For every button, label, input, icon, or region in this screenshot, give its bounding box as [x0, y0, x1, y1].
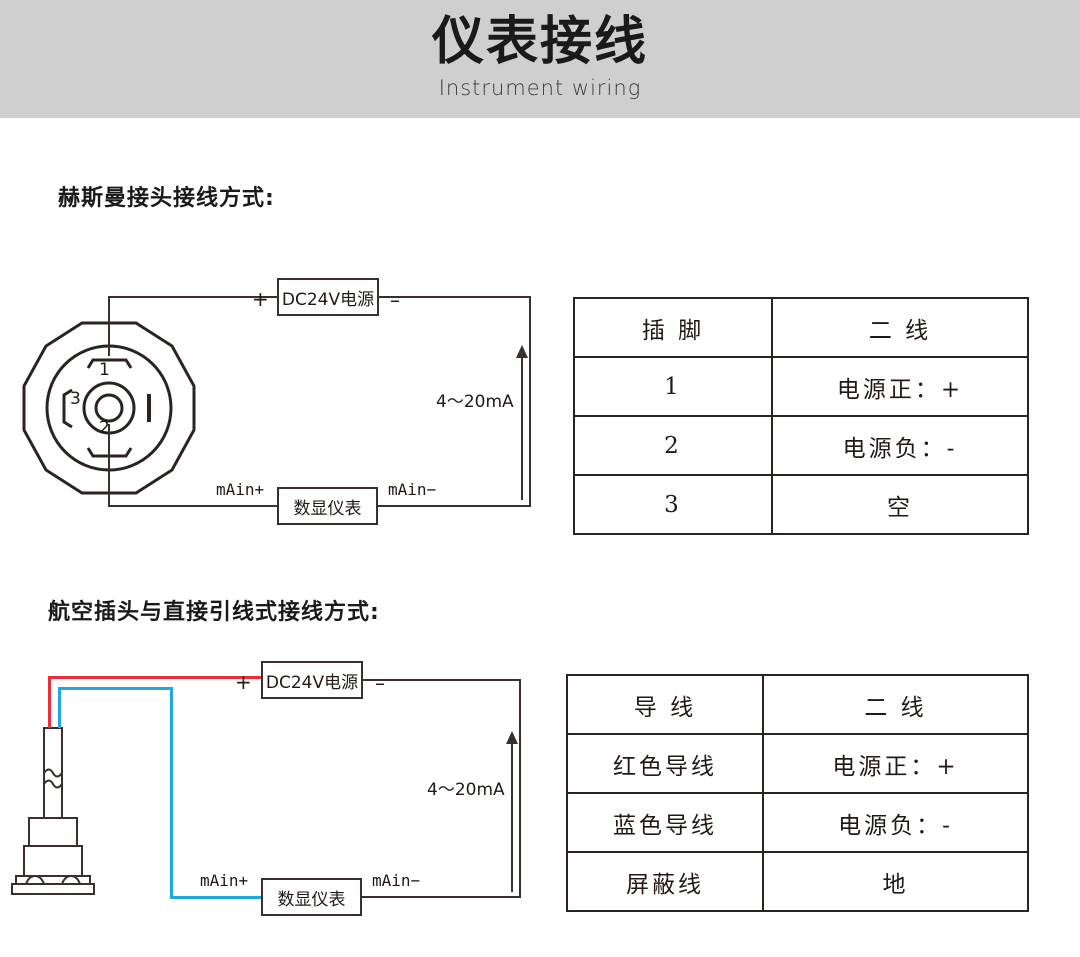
probe-sensor-graphic [8, 718, 118, 898]
table-header-twowire-2: 二 线 [763, 675, 1028, 734]
table-cell-func-3: 空 [772, 475, 1028, 534]
table-row-header: 插 脚 二 线 [574, 298, 1028, 357]
current-arrow-head-1 [516, 345, 528, 358]
section-heading-aviation-plug: 航空插头与直接引线式接线方式: [48, 594, 380, 626]
power-plus-label-2: + [235, 670, 252, 694]
meter-in-plus-label-2: mAin+ [200, 871, 248, 890]
current-range-label-2: 4～20mA [427, 775, 505, 800]
table-row-header: 导 线 二 线 [567, 675, 1028, 734]
meter-in-plus-label-1: mAin+ [216, 480, 264, 499]
table-cell-pin-2: 2 [574, 416, 772, 475]
page-title: 仪表接线 [0, 16, 1080, 68]
red-wire-vertical [48, 676, 51, 728]
table-cell-wire-red: 红色导线 [567, 734, 763, 793]
blue-wire-horizontal-top [58, 687, 173, 690]
blue-wire-horizontal-bottom [170, 896, 263, 899]
red-wire-horizontal [48, 676, 263, 679]
table-header-pin: 插 脚 [574, 298, 772, 357]
wire-meter-minus-to-rail-1 [378, 505, 531, 507]
table-row: 2 电源负：- [574, 416, 1028, 475]
power-minus-label-2: – [375, 671, 385, 695]
current-arrow-shaft-1 [521, 358, 523, 500]
connector-pin-3-label: 3 [70, 389, 81, 409]
blue-wire-vertical-left [58, 687, 61, 728]
table-row: 蓝色导线 电源负：- [567, 793, 1028, 852]
connector-pin-1-label: 1 [99, 360, 110, 380]
wire-pin1-vertical [108, 296, 110, 356]
wire-power-minus-to-rail-1 [379, 296, 531, 298]
wire-pin2-vertical [108, 424, 110, 507]
current-arrow-shaft-2 [511, 744, 513, 892]
wire-right-rail-2 [519, 679, 521, 898]
table-cell-wire-shield: 屏蔽线 [567, 852, 763, 911]
table-header-twowire: 二 线 [772, 298, 1028, 357]
power-plus-label-1: + [252, 287, 269, 311]
blue-wire-vertical-right [170, 687, 173, 899]
table-cell-func-1: 电源正：+ [772, 357, 1028, 416]
table-row: 红色导线 电源正：+ [567, 734, 1028, 793]
table-row: 1 电源正：+ [574, 357, 1028, 416]
digital-meter-box-1: 数显仪表 [277, 487, 378, 525]
meter-in-minus-label-1: mAin− [388, 480, 436, 499]
table-cell-wire-blue: 蓝色导线 [567, 793, 763, 852]
table-cell-pin-3: 3 [574, 475, 772, 534]
wire-right-rail-1 [529, 296, 531, 507]
table-cell-pin-1: 1 [574, 357, 772, 416]
table-cell-func-red: 电源正：+ [763, 734, 1028, 793]
table-header-wire: 导 线 [567, 675, 763, 734]
pin-assignment-table: 插 脚 二 线 1 电源正：+ 2 电源负：- 3 空 [573, 297, 1029, 535]
power-minus-label-1: – [390, 288, 400, 312]
dc24v-power-box-1: DC24V电源 [277, 278, 379, 316]
table-cell-func-blue: 电源负：- [763, 793, 1028, 852]
wiring-instruction-page: 仪表接线 Instrument wiring 赫斯曼接头接线方式: 1 2 3 … [0, 0, 1080, 957]
wire-meter-minus-to-rail-2 [362, 896, 521, 898]
wire-pin2-horizontal [108, 505, 278, 507]
table-row: 3 空 [574, 475, 1028, 534]
digital-meter-box-2: 数显仪表 [261, 878, 362, 916]
current-arrow-head-2 [506, 731, 518, 744]
meter-in-minus-label-2: mAin− [372, 871, 420, 890]
dc24v-power-box-2: DC24V电源 [261, 661, 363, 699]
page-subtitle: Instrument wiring [0, 78, 1080, 99]
current-range-label-1: 4～20mA [436, 387, 514, 412]
section-heading-hirschmann: 赫斯曼接头接线方式: [58, 180, 275, 212]
table-row: 屏蔽线 地 [567, 852, 1028, 911]
wire-power-minus-to-rail-2 [363, 679, 521, 681]
table-cell-func-2: 电源负：- [772, 416, 1028, 475]
table-cell-func-shield: 地 [763, 852, 1028, 911]
wire-color-assignment-table: 导 线 二 线 红色导线 电源正：+ 蓝色导线 电源负：- 屏蔽线 地 [566, 674, 1029, 912]
